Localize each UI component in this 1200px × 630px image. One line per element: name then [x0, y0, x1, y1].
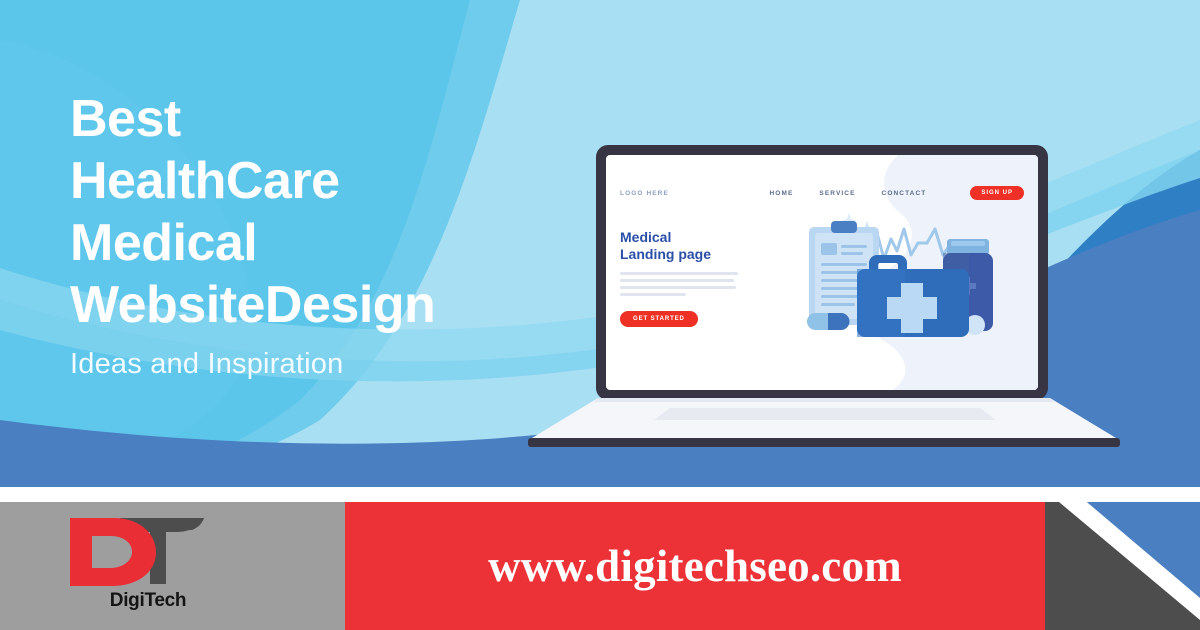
footer-diagonal-accent [1045, 502, 1200, 630]
page-title: Best HealthCare Medical WebsiteDesign Id… [70, 88, 540, 381]
laptop-base [520, 398, 1140, 450]
hero-title-line-2: Landing page [620, 246, 800, 263]
digitech-logo: DigiTech [58, 512, 238, 622]
laptop-screen: LOGO HERE HOME SERVICE CONCTACT SIGN UP … [606, 155, 1038, 390]
subtitle: Ideas and Inspiration [70, 348, 540, 381]
site-logo[interactable]: LOGO HERE [620, 190, 669, 197]
headline-line-2: HealthCare [70, 150, 540, 212]
hero-body-line [620, 293, 686, 296]
headline-line-4: WebsiteDesign [70, 274, 540, 336]
dt-monogram-icon [58, 512, 238, 590]
logo-wordmark: DigiTech [58, 590, 238, 612]
sign-up-button[interactable]: SIGN UP [970, 186, 1024, 200]
get-started-button[interactable]: GET STARTED [620, 311, 698, 327]
site-hero: Medical Landing page Lorem ipsum dolor s… [620, 229, 800, 327]
hero-body-line [620, 279, 734, 282]
laptop-lid: LOGO HERE HOME SERVICE CONCTACT SIGN UP … [596, 145, 1048, 400]
website-url[interactable]: www.digitechseo.com [345, 502, 1045, 630]
hero-body-placeholder: Lorem ipsum dolor sit amet consectetur a… [620, 272, 800, 296]
hero-body-line [620, 286, 736, 289]
nav-item-service[interactable]: SERVICE [819, 190, 855, 197]
website-url-text: www.digitechseo.com [488, 540, 902, 592]
headline-line-3: Medical [70, 212, 540, 274]
medical-illustration [801, 199, 1031, 374]
nav-item-home[interactable]: HOME [770, 190, 794, 197]
hero-body-line [620, 272, 738, 275]
nav-links: HOME SERVICE CONCTACT SIGN UP [770, 186, 1025, 200]
footer-bar: DigiTech www.digitechseo.com [0, 502, 1200, 630]
hero-title-line-1: Medical [620, 229, 800, 246]
site-navbar: LOGO HERE HOME SERVICE CONCTACT SIGN UP [606, 183, 1038, 203]
nav-item-conctact[interactable]: CONCTACT [882, 190, 927, 197]
laptop-mockup: LOGO HERE HOME SERVICE CONCTACT SIGN UP … [520, 145, 1140, 485]
banner-hero: Best HealthCare Medical WebsiteDesign Id… [0, 0, 1200, 487]
headline-line-1: Best [70, 88, 540, 150]
